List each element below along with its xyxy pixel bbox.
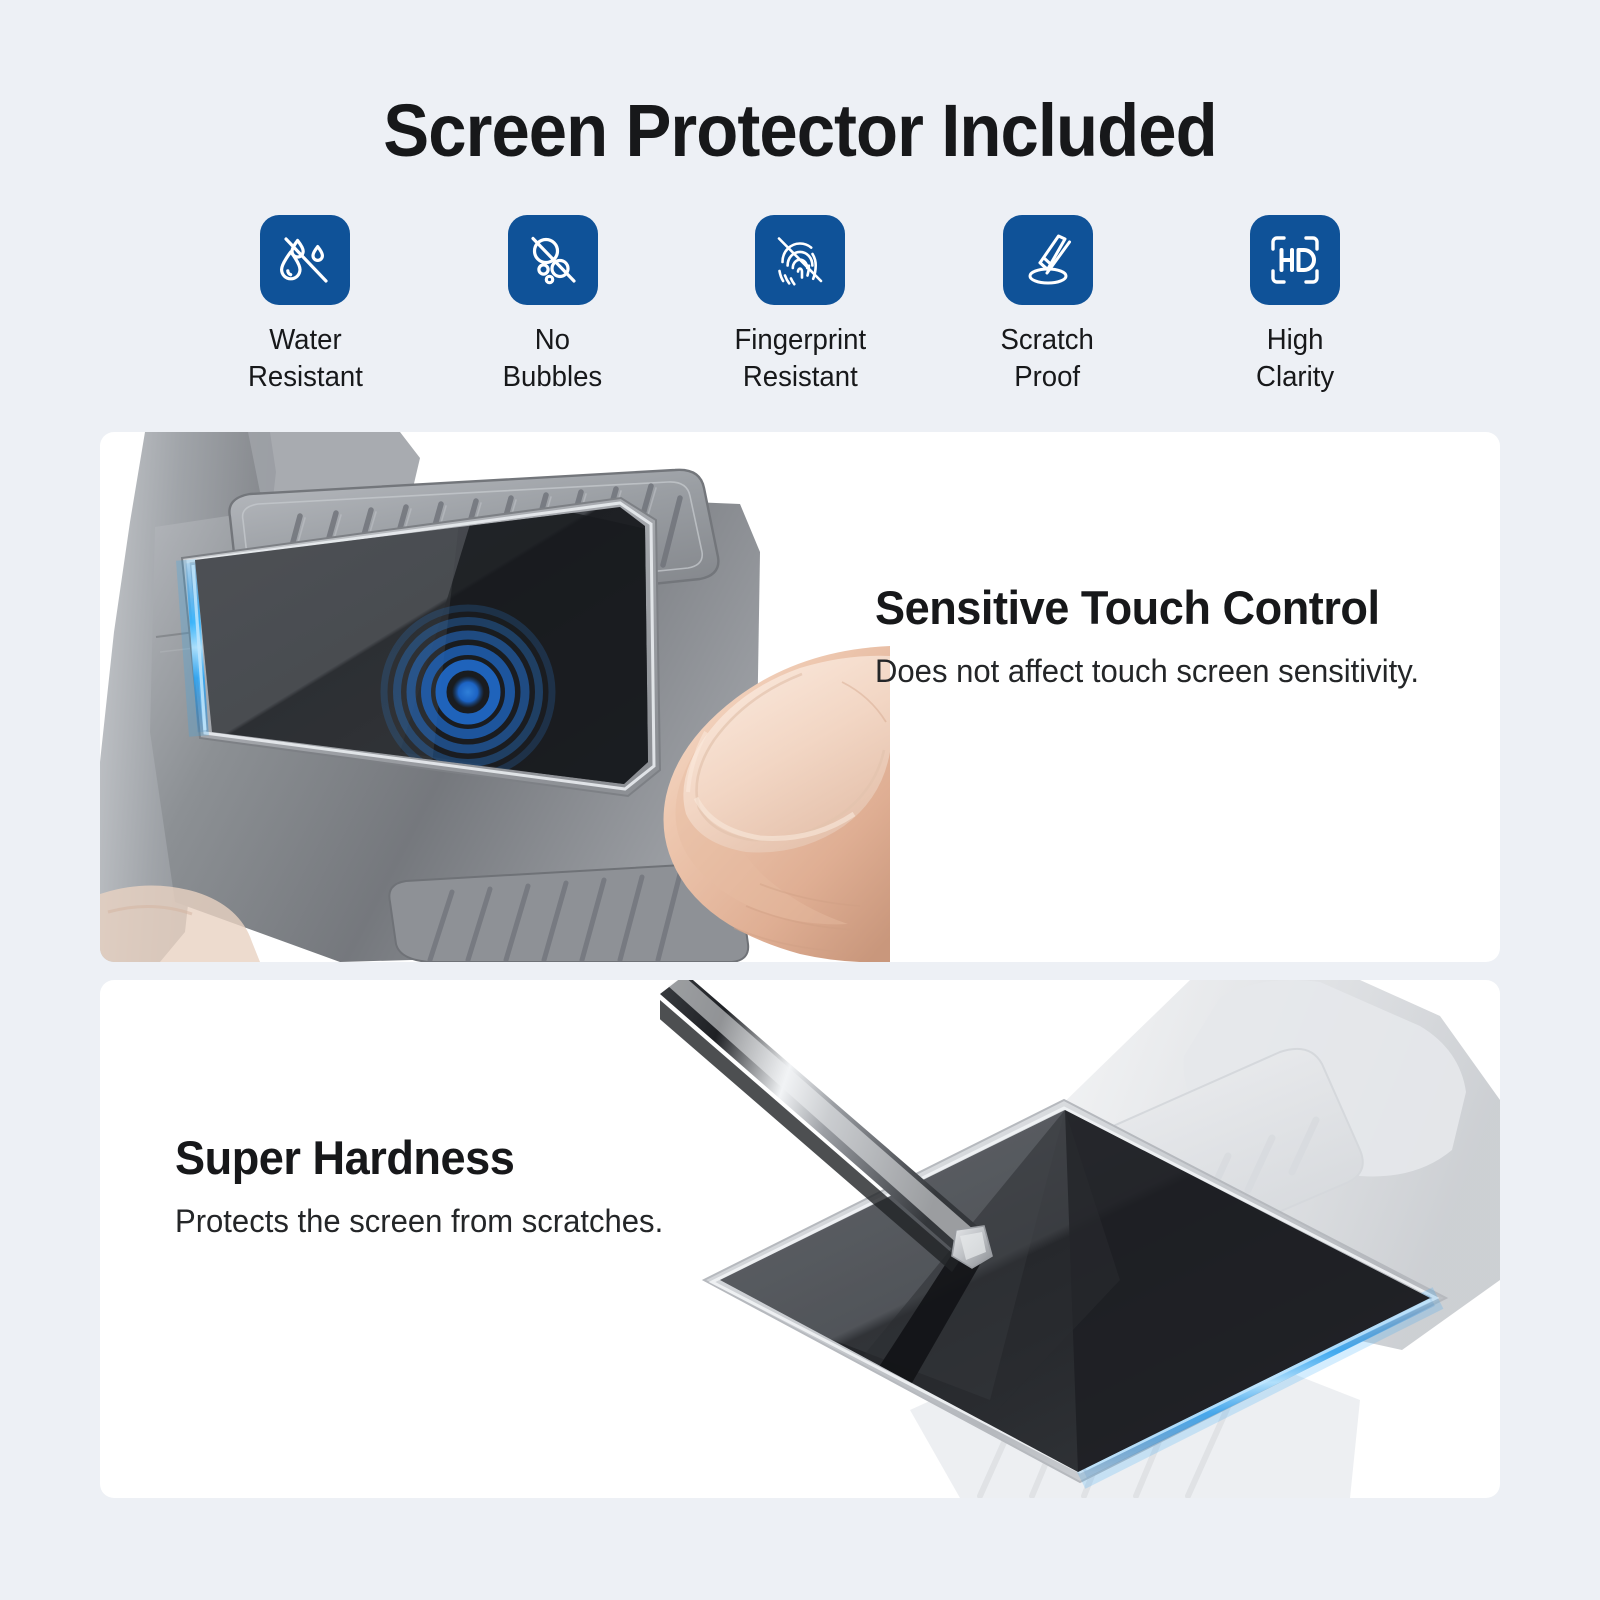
feature-strip: Water Resistant No Bubbles: [205, 215, 1395, 405]
blade-scratch-icon: [1003, 215, 1093, 305]
page-title: Screen Protector Included: [56, 88, 1544, 173]
product-image-touch-demo: [100, 432, 890, 962]
feature-item-no-bubbles: No Bubbles: [453, 215, 653, 405]
touch-panel-subtext: Does not affect touch screen sensitivity…: [875, 653, 1457, 690]
water-drop-slash-icon: [260, 215, 350, 305]
touch-panel-text: Sensitive Touch Control Does not affect …: [875, 580, 1475, 690]
hardness-panel-heading: Super Hardness: [175, 1130, 751, 1185]
feature-label-scratch-proof: Scratch Proof: [1001, 322, 1094, 396]
hd-frame-icon: [1250, 215, 1340, 305]
feature-label-fingerprint-resistant: Fingerprint Resistant: [734, 322, 866, 396]
feature-item-high-clarity: High Clarity: [1195, 215, 1395, 405]
bubbles-slash-icon: [508, 215, 598, 305]
panel-sensitive-touch-control: Sensitive Touch Control Does not affect …: [100, 432, 1500, 962]
feature-item-water-resistant: Water Resistant: [205, 215, 405, 405]
hardness-panel-subtext: Protects the screen from scratches.: [175, 1203, 757, 1240]
touch-panel-heading: Sensitive Touch Control: [875, 580, 1451, 635]
feature-label-high-clarity: High Clarity: [1256, 322, 1334, 396]
feature-label-water-resistant: Water Resistant: [248, 322, 363, 396]
feature-label-no-bubbles: No Bubbles: [503, 322, 603, 396]
panel-super-hardness: Super Hardness Protects the screen from …: [100, 980, 1500, 1498]
fingerprint-slash-icon: [755, 215, 845, 305]
hardness-panel-text: Super Hardness Protects the screen from …: [175, 1130, 775, 1240]
feature-item-fingerprint-resistant: Fingerprint Resistant: [700, 215, 900, 405]
product-image-scratch-demo: [660, 980, 1500, 1498]
infographic-page: Screen Protector Included Water Resistan…: [0, 0, 1600, 1600]
feature-item-scratch-proof: Scratch Proof: [948, 215, 1148, 405]
